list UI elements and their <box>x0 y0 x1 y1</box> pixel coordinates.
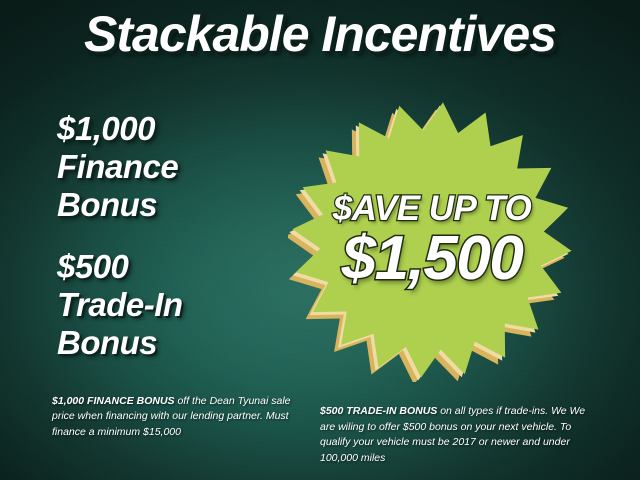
offer-trade-in-line3: Bonus <box>57 324 183 362</box>
offer-finance-line3: Bonus <box>57 186 178 224</box>
offer-trade-in-amount: $500 <box>57 248 183 286</box>
offer-trade-in-line2: Trade-In <box>57 286 183 324</box>
offer-finance-line2: Finance <box>57 148 178 186</box>
page-title: Stackable Incentives <box>0 4 640 64</box>
fineprint-trade-in: $500 TRADE-IN BONUS on all types if trad… <box>320 404 592 466</box>
offer-finance-amount: $1,000 <box>57 110 178 148</box>
offer-finance: $1,000 Finance Bonus <box>57 110 178 224</box>
fineprint-finance: $1,000 FINANCE BONUS off the Dean Tyunai… <box>52 394 310 441</box>
fineprint-finance-lead: $1,000 FINANCE BONUS <box>52 395 175 407</box>
fineprint-trade-in-lead: $500 TRADE-IN BONUS <box>320 405 437 417</box>
starburst-shape <box>288 98 576 382</box>
offer-trade-in: $500 Trade-In Bonus <box>57 248 183 362</box>
savings-starburst-badge: $AVE UP TO $1,500 <box>288 98 576 382</box>
promo-graphic: Stackable Incentives $1,000 Finance Bonu… <box>0 0 640 480</box>
